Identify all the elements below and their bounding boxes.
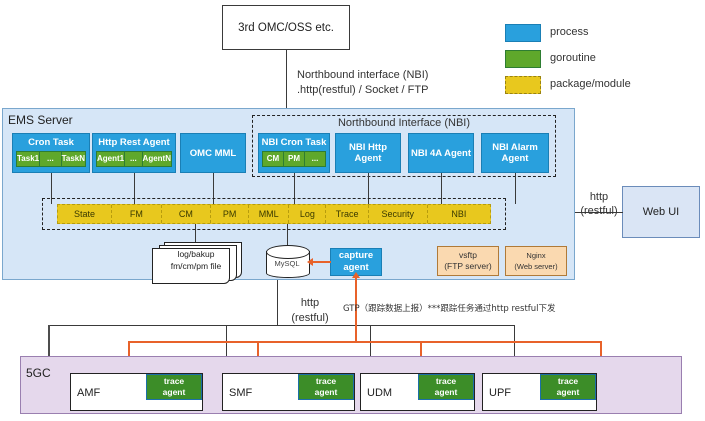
trace-agent-amf[interactable]: trace agent bbox=[146, 374, 202, 400]
trace-agent-amf-line1: trace bbox=[164, 376, 184, 387]
nf-box-upf[interactable]: UPF trace agent bbox=[482, 373, 597, 411]
process-cron-task[interactable]: Cron Task Task1 ... TaskN bbox=[12, 133, 90, 173]
trace-agent-upf-line2: agent bbox=[557, 387, 580, 398]
southbound-http-label: http (restful) bbox=[284, 296, 336, 326]
nf-name-smf: SMF bbox=[229, 387, 252, 399]
legend-swatch-process bbox=[505, 24, 541, 42]
nf-name-amf: AMF bbox=[77, 387, 100, 399]
file-store-line1: log/bakup bbox=[178, 249, 215, 259]
goroutine-pm[interactable]: PM bbox=[284, 152, 305, 166]
web-ui-label: Web UI bbox=[643, 206, 679, 218]
nf-name-upf: UPF bbox=[489, 387, 511, 399]
web-ui-link-label: http (restful) bbox=[576, 190, 622, 218]
module-security[interactable]: Security bbox=[369, 205, 428, 223]
process-nbi-http-agent-title: NBI Http Agent bbox=[336, 142, 400, 164]
goroutine-nbi-ellipsis[interactable]: ... bbox=[305, 152, 325, 166]
gtp-note-label: GTP（跟踪数据上报）***跟踪任务通过http restful下发 bbox=[343, 302, 556, 314]
nf-name-udm: UDM bbox=[367, 387, 392, 399]
legend-swatch-package bbox=[505, 76, 541, 94]
legend: process goroutine package/module bbox=[505, 24, 695, 90]
process-cron-task-title: Cron Task bbox=[13, 137, 89, 148]
third-party-omc-oss-box: 3rd OMC/OSS etc. bbox=[222, 5, 350, 50]
capture-to-mysql-arrowhead-icon bbox=[307, 258, 313, 266]
trace-agent-udm-line1: trace bbox=[436, 376, 456, 387]
goroutine-strip-cron-task: Task1 ... TaskN bbox=[16, 151, 86, 167]
nbi-trunk-line bbox=[286, 50, 287, 116]
file-store-line2: fm/cm/pm file bbox=[171, 261, 222, 271]
capture-to-mysql-line bbox=[313, 261, 331, 263]
goroutine-task1[interactable]: Task1 bbox=[17, 152, 40, 166]
southbound-http-line1: http bbox=[301, 297, 319, 309]
process-nbi-alarm-agent-title: NBI Alarm Agent bbox=[482, 142, 548, 164]
process-nbi-http-agent[interactable]: NBI Http Agent bbox=[335, 133, 401, 173]
capture-agent-line1: capture bbox=[339, 250, 373, 262]
process-omc-mml-title: OMC MML bbox=[181, 148, 245, 159]
module-cm[interactable]: CM bbox=[162, 205, 212, 223]
web-ui-box: Web UI bbox=[622, 186, 700, 238]
trace-agent-udm-line2: agent bbox=[435, 387, 458, 398]
trace-agent-upf[interactable]: trace agent bbox=[540, 374, 596, 400]
nf-box-amf[interactable]: AMF trace agent bbox=[70, 373, 203, 411]
trace-agent-amf-line2: agent bbox=[163, 387, 186, 398]
nf-box-udm[interactable]: UDM trace agent bbox=[360, 373, 475, 411]
nginx-line2: (Web server) bbox=[514, 261, 557, 272]
file-store-label: log/bakup fm/cm/pm file bbox=[158, 248, 234, 272]
vsftp-line2: (FTP server) bbox=[444, 261, 492, 272]
module-trace[interactable]: Trace bbox=[326, 205, 369, 223]
vsftp-line1: vsftp bbox=[459, 250, 477, 261]
goroutine-agent1[interactable]: Agent1 bbox=[97, 152, 125, 166]
nbi-annotation-line1: Northbound interface (NBI) bbox=[297, 69, 428, 81]
goroutine-strip-http-rest-agent: Agent1 ... AgentN bbox=[96, 151, 172, 167]
module-pm[interactable]: PM bbox=[211, 205, 249, 223]
legend-label-process: process bbox=[550, 24, 589, 40]
nbi-annotation-line2: .http(restful) / Socket / FTP bbox=[297, 84, 428, 96]
goroutine-strip-nbi-cron-task: CM PM ... bbox=[262, 151, 326, 167]
process-nbi-cron-task[interactable]: NBI Cron Task CM PM ... bbox=[258, 133, 330, 173]
nginx-server-box: Nginx (Web server) bbox=[505, 246, 567, 276]
goroutine-taskn[interactable]: TaskN bbox=[62, 152, 85, 166]
module-fm[interactable]: FM bbox=[112, 205, 162, 223]
trace-agent-upf-line1: trace bbox=[558, 376, 578, 387]
southbound-bus-line bbox=[48, 325, 515, 326]
nf-box-smf[interactable]: SMF trace agent bbox=[222, 373, 355, 411]
process-omc-mml[interactable]: OMC MML bbox=[180, 133, 246, 173]
nginx-line1: Nginx bbox=[526, 250, 545, 261]
process-nbi-cron-task-title: NBI Cron Task bbox=[259, 137, 329, 148]
trace-agent-smf[interactable]: trace agent bbox=[298, 374, 354, 400]
module-nbi[interactable]: NBI bbox=[428, 205, 490, 223]
legend-label-package: package/module bbox=[550, 76, 631, 92]
vsftp-server-box: vsftp (FTP server) bbox=[437, 246, 499, 276]
gtp-arrowhead-icon bbox=[352, 272, 360, 278]
goroutine-cm[interactable]: CM bbox=[263, 152, 284, 166]
process-http-rest-agent-title: Http Rest Agent bbox=[93, 137, 175, 148]
web-ui-link-line1: http bbox=[590, 191, 608, 203]
trace-agent-smf-line1: trace bbox=[316, 376, 336, 387]
trace-agent-udm[interactable]: trace agent bbox=[418, 374, 474, 400]
module-log[interactable]: Log bbox=[289, 205, 326, 223]
module-state[interactable]: State bbox=[58, 205, 112, 223]
nbi-annotation: Northbound interface (NBI) .http(restful… bbox=[297, 68, 428, 98]
process-nbi-alarm-agent[interactable]: NBI Alarm Agent bbox=[481, 133, 549, 173]
connector-module-to-mysql bbox=[287, 224, 288, 246]
gtp-bus-line bbox=[128, 341, 601, 343]
module-bar: State FM CM PM MML Log Trace Security NB… bbox=[57, 204, 491, 224]
goroutine-task-ellipsis[interactable]: ... bbox=[40, 152, 61, 166]
process-nbi-4a-agent-title: NBI 4A Agent bbox=[409, 148, 473, 159]
legend-swatch-goroutine bbox=[505, 50, 541, 68]
mysql-cylinder-top bbox=[266, 245, 310, 259]
module-mml[interactable]: MML bbox=[249, 205, 289, 223]
connector-nbi-alarm-agent bbox=[515, 173, 516, 204]
web-ui-link-line2: (restful) bbox=[580, 205, 617, 217]
trace-agent-smf-line2: agent bbox=[315, 387, 338, 398]
5gc-label: 5GC bbox=[26, 366, 51, 380]
connector-module-to-files bbox=[195, 224, 196, 244]
southbound-http-line bbox=[277, 280, 278, 325]
goroutine-agent-ellipsis[interactable]: ... bbox=[125, 152, 142, 166]
goroutine-agentn[interactable]: AgentN bbox=[143, 152, 171, 166]
legend-label-goroutine: goroutine bbox=[550, 50, 596, 66]
gtp-riser-line bbox=[355, 326, 357, 342]
nbi-group-title: Northbound Interface (NBI) bbox=[252, 117, 556, 129]
mysql-label: MySQL bbox=[266, 259, 308, 268]
third-party-label: 3rd OMC/OSS etc. bbox=[238, 22, 334, 34]
southbound-http-line2: (restful) bbox=[291, 312, 328, 324]
process-http-rest-agent[interactable]: Http Rest Agent Agent1 ... AgentN bbox=[92, 133, 176, 173]
process-nbi-4a-agent[interactable]: NBI 4A Agent bbox=[408, 133, 474, 173]
ems-server-label: EMS Server bbox=[8, 113, 73, 127]
